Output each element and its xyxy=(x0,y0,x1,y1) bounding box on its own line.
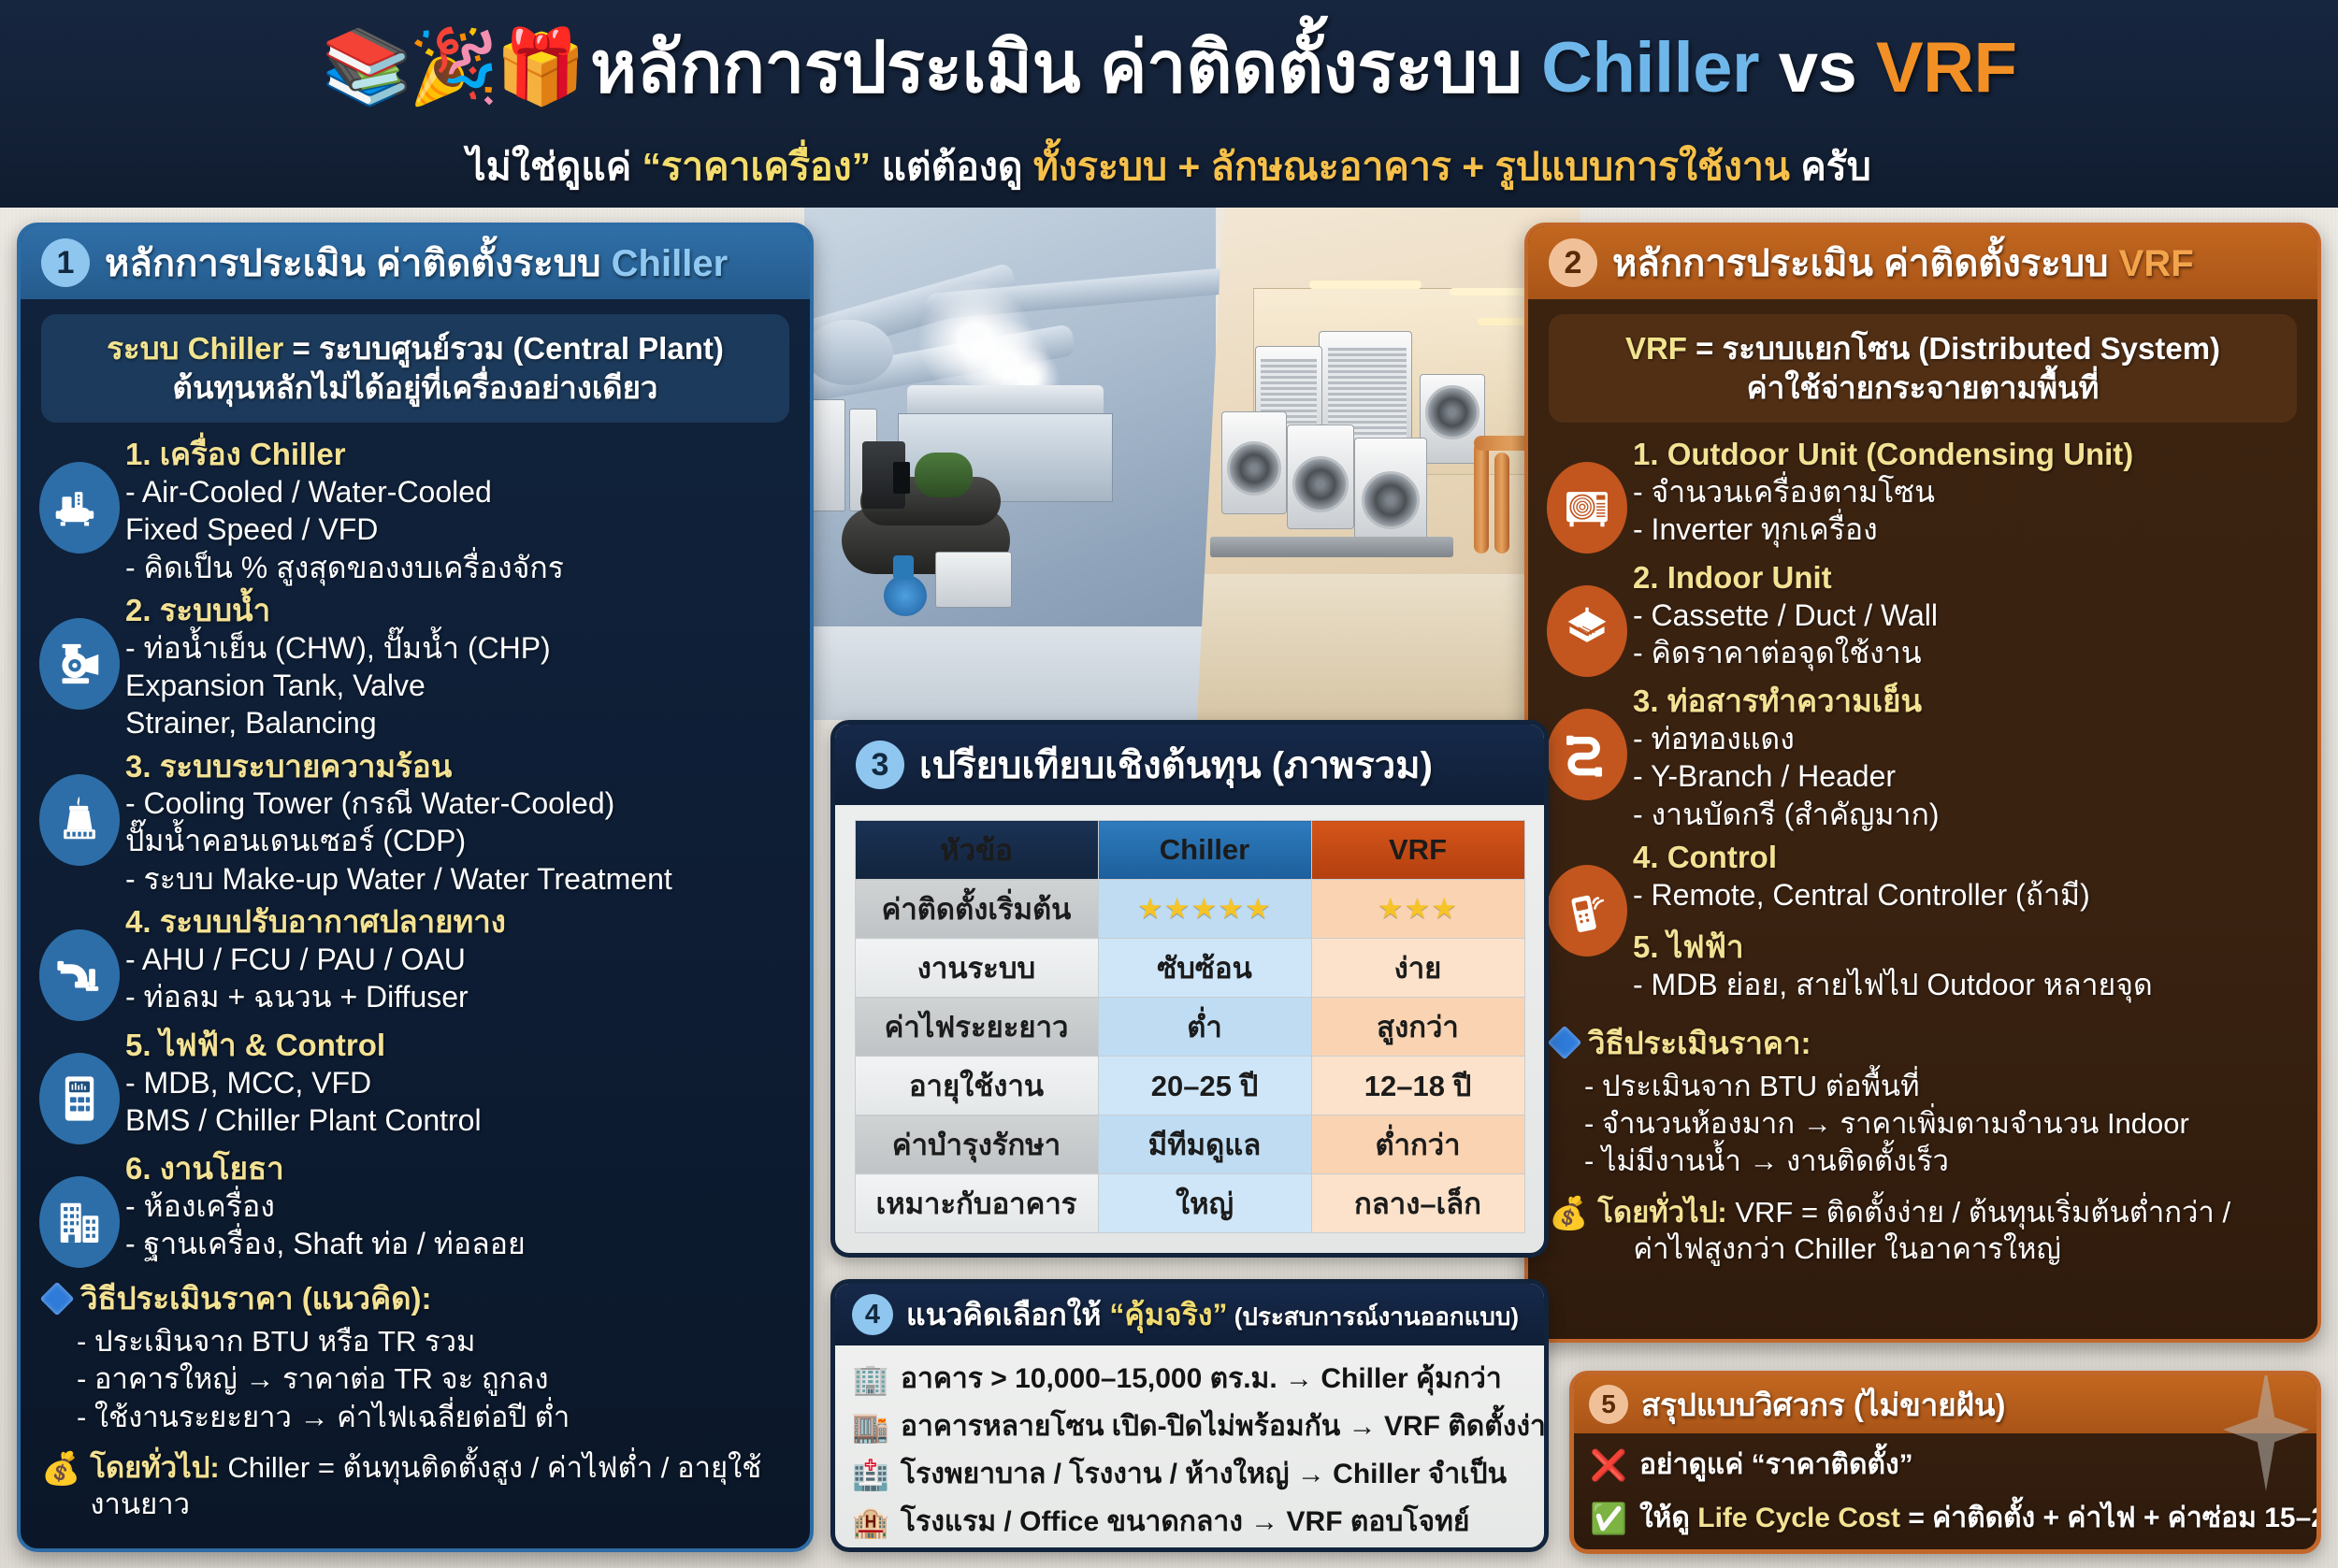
table-row: ค่าไฟระยะยาว ต่ำ สูงกว่า xyxy=(855,998,1524,1057)
table-row: งานระบบ ซับซ้อน ง่าย xyxy=(855,939,1524,998)
money-bag-icon: 💰 xyxy=(1549,1198,1588,1230)
list-item-title: 3. ท่อสารทำความเย็น xyxy=(1633,683,1939,720)
list-item-line: - ห้องเครื่อง xyxy=(125,1187,526,1225)
method-line: - อาคารใหญ่ → ราคาต่อ TR จะ ถูกลง xyxy=(45,1360,793,1398)
chiller-definition-box: ระบบ Chiller = ระบบศูนย์รวม (Central Pla… xyxy=(41,314,789,423)
chiller-machine-icon xyxy=(39,462,120,554)
list-item: 4. Control - Remote, Central Controller … xyxy=(1528,839,2317,1003)
list-item-title: 4. Control xyxy=(1633,839,2153,876)
cell-vrf: 12–18 ปี xyxy=(1311,1057,1524,1115)
cost-comparison-header: 3 เปรียบเทียบเชิงต้นทุน (ภาพรวม) xyxy=(835,725,1544,805)
list-item: 🏥 โรงพยาบาล / โรงงาน / ห้างใหญ่ → Chille… xyxy=(852,1452,1535,1496)
vrf-item-list: 1. Outdoor Unit (Condensing Unit) - จำนว… xyxy=(1528,436,2317,1002)
rating-stars-vrf: ★★★ xyxy=(1378,892,1458,926)
cost-comparison-card: 3 เปรียบเทียบเชิงต้นทุน (ภาพรวม) หัวข้อ … xyxy=(830,720,1549,1258)
list-item-line: Expansion Tank, Valve xyxy=(125,667,551,704)
engineer-summary-title: สรุปแบบวิศวกร (ไม่ขายฝัน) xyxy=(1641,1380,2006,1430)
diamond-bullet-icon xyxy=(40,1281,75,1316)
list-item-line: BMS / Chiller Plant Control xyxy=(125,1101,482,1139)
check-mark-icon: ✅ xyxy=(1589,1503,1628,1533)
money-bag-icon: 💰 xyxy=(41,1453,80,1485)
list-item-title: 1. เครื่อง Chiller xyxy=(125,436,564,473)
definition-line-2: ค่าใช้จ่ายกระจายตามพื้นที่ xyxy=(1562,368,2284,408)
books-party-gift-icon: 📚🎉🎁 xyxy=(322,31,583,104)
list-item-body: 4. ระบบปรับอากาศปลายทาง - AHU / FCU / PA… xyxy=(120,903,506,1015)
list-item-line: - AHU / FCU / PAU / OAU xyxy=(125,941,506,978)
engineer-summary-card: 5 สรุปแบบวิศวกร (ไม่ขายฝัน) ❌ อย่าดูแค่ … xyxy=(1569,1371,2321,1554)
infographic-page: 📚🎉🎁 หลักการประเมิน ค่าติดตั้งระบบ Chille… xyxy=(0,0,2338,1568)
department-store-icon: 🏬 xyxy=(852,1412,889,1442)
list-item-body: 5. ไฟฟ้า & Control - MDB, MCC, VFD BMS /… xyxy=(120,1027,482,1139)
vrf-outdoor-units-photo xyxy=(1197,208,1580,720)
list-item: 4. ระบบปรับอากาศปลายทาง - AHU / FCU / PA… xyxy=(21,903,810,1021)
vrf-method-block: วิธีประเมินราคา: - ประเมินจาก BTU ต่อพื้… xyxy=(1528,1003,2317,1181)
list-item-line: - ท่อลม + ฉนวน + Diffuser xyxy=(125,978,506,1015)
list-item-line: - ฐานเครื่อง, Shaft ท่อ / ท่อลอย xyxy=(125,1225,526,1262)
summary-text: โดยทั่วไป: Chiller = ต้นทุนติดตั้งสูง / … xyxy=(90,1449,795,1522)
list-item-line: - Cassette / Duct / Wall xyxy=(1633,597,1938,634)
cell-topic: งานระบบ xyxy=(855,939,1098,998)
list-item-title: 5. ไฟฟ้า xyxy=(1633,928,2153,966)
air-duct-icon xyxy=(39,929,120,1021)
refrigerant-pipe-icon xyxy=(1547,709,1627,800)
list-item-body: 6. งานโยธา - ห้องเครื่อง - ฐานเครื่อง, S… xyxy=(120,1150,526,1262)
chiller-plant-photo xyxy=(804,208,1216,720)
cell-topic: ค่าไฟระยะยาว xyxy=(855,998,1098,1057)
section-number-badge: 2 xyxy=(1549,238,1597,287)
list-item-line: - จำนวนเครื่องตามโซน xyxy=(1633,473,2133,511)
list-item-title: 2. ระบบน้ำ xyxy=(125,592,551,629)
cooling-tower-icon xyxy=(39,774,120,866)
cell-topic: เหมาะกับอาคาร xyxy=(855,1174,1098,1233)
list-item-line: - งานบัดกรี (สำคัญมาก) xyxy=(1633,796,1939,833)
cell-chiller: ซับซ้อน xyxy=(1098,939,1311,998)
cell-topic: อายุใช้งาน xyxy=(855,1057,1098,1115)
selection-guideline-header: 4 แนวคิดเลือกให้ “คุ้มจริง” (ประสบการณ์ง… xyxy=(835,1284,1544,1345)
column-header-chiller: Chiller xyxy=(1098,821,1311,880)
list-item-line: - Air-Cooled / Water-Cooled xyxy=(125,473,564,511)
list-item-line: - Y-Branch / Header xyxy=(1633,757,1939,795)
list-item-text: อาคารหลายโซน เปิด-ปิดไม่พร้อมกัน → VRF ต… xyxy=(901,1404,1549,1448)
list-item-text: โรงพยาบาล / โรงงาน / ห้างใหญ่ → Chiller … xyxy=(901,1452,1507,1496)
chiller-panel-title: หลักการประเมิน ค่าติดตั้งระบบ Chiller xyxy=(105,233,728,293)
list-item-line: - MDB, MCC, VFD xyxy=(125,1064,482,1101)
method-line: - ใช้งานระยะยาว → ค่าไฟเฉลี่ยต่อปี ต่ำ xyxy=(45,1399,793,1436)
list-item-body: 2. Indoor Unit - Cassette / Duct / Wall … xyxy=(1627,559,1938,671)
list-item-line: - Inverter ทุกเครื่อง xyxy=(1633,511,2133,548)
hospital-icon: 🏥 xyxy=(852,1460,889,1489)
list-item-body: 1. เครื่อง Chiller - Air-Cooled / Water-… xyxy=(120,436,564,586)
list-item-title: 3. ระบบระบายความร้อน xyxy=(125,748,672,785)
table-header-row: หัวข้อ Chiller VRF xyxy=(855,821,1524,880)
selection-guideline-card: 4 แนวคิดเลือกให้ “คุ้มจริง” (ประสบการณ์ง… xyxy=(830,1279,1549,1552)
table-row: ค่าบำรุงรักษา มีทีมดูแล ต่ำกว่า xyxy=(855,1115,1524,1174)
remote-control-icon xyxy=(1547,865,1627,957)
section-number-badge: 1 xyxy=(41,238,90,287)
page-header: 📚🎉🎁 หลักการประเมิน ค่าติดตั้งระบบ Chille… xyxy=(0,0,2338,208)
list-item: 🏬 อาคารหลายโซน เปิด-ปิดไม่พร้อมกัน → VRF… xyxy=(852,1404,1535,1448)
list-item-title: 2. Indoor Unit xyxy=(1633,559,1938,597)
chiller-summary: 💰 โดยทั่วไป: Chiller = ต้นทุนติดตั้งสูง … xyxy=(21,1436,810,1522)
cell-topic: ค่าบำรุงรักษา xyxy=(855,1115,1098,1174)
chiller-panel-header: 1 หลักการประเมิน ค่าติดตั้งระบบ Chiller xyxy=(21,226,810,299)
method-line: - ประเมินจาก BTU หรือ TR รวม xyxy=(45,1323,793,1360)
cost-comparison-table: หัวข้อ Chiller VRF ค่าติดตั้งเริ่มต้น ★★… xyxy=(855,820,1525,1233)
list-item: 2. ระบบน้ำ - ท่อน้ำเย็น (CHW), ปั๊มน้ำ (… xyxy=(21,592,810,742)
definition-line-1: VRF = ระบบแยกโซน (Distributed System) xyxy=(1562,329,2284,368)
chiller-panel: 1 หลักการประเมิน ค่าติดตั้งระบบ Chiller … xyxy=(17,223,814,1552)
list-item: 6. งานโยธา - ห้องเครื่อง - ฐานเครื่อง, S… xyxy=(21,1150,810,1268)
list-item: 1. Outdoor Unit (Condensing Unit) - จำนว… xyxy=(1528,436,2317,554)
rating-stars-chiller: ★★★★★ xyxy=(1137,892,1272,926)
cross-mark-icon: ❌ xyxy=(1589,1450,1628,1480)
list-item-title: 4. ระบบปรับอากาศปลายทาง xyxy=(125,903,506,941)
cell-chiller: มีทีมดูแล xyxy=(1098,1115,1311,1174)
cell-chiller: ใหญ่ xyxy=(1098,1174,1311,1233)
list-item: 3. ระบบระบายความร้อน - Cooling Tower (กร… xyxy=(21,748,810,899)
column-header-vrf: VRF xyxy=(1311,821,1524,880)
vrf-panel-title: หลักการประเมิน ค่าติดตั้งระบบ VRF xyxy=(1612,233,2194,293)
cell-vrf: ต่ำกว่า xyxy=(1311,1115,1524,1174)
list-item-line: ปั๊มน้ำคอนเดนเซอร์ (CDP) xyxy=(125,822,672,859)
section-number-badge: 3 xyxy=(856,741,904,789)
chiller-item-list: 1. เครื่อง Chiller - Air-Cooled / Water-… xyxy=(21,436,810,1268)
list-item-body: 3. ท่อสารทำความเย็น - ท่อทองแดง - Y-Bran… xyxy=(1627,683,1939,833)
vrf-summary: 💰 โดยทั่วไป: VRF = ติดตั้งง่าย / ต้นทุนเ… xyxy=(1528,1181,2317,1267)
list-item-line: - Remote, Central Controller (ถ้ามี) xyxy=(1633,876,2153,913)
column-header-topic: หัวข้อ xyxy=(855,821,1098,880)
cell-vrf: กลาง–เล็ก xyxy=(1311,1174,1524,1233)
list-item-body: 3. ระบบระบายความร้อน - Cooling Tower (กร… xyxy=(120,748,672,899)
list-item-text: อาคาร > 10,000–15,000 ตร.ม. → Chiller คุ… xyxy=(901,1357,1502,1401)
cell-vrf: ง่าย xyxy=(1311,939,1524,998)
list-item-line: - ท่อทองแดง xyxy=(1633,720,1939,757)
selection-guideline-list: 🏢 อาคาร > 10,000–15,000 ตร.ม. → Chiller … xyxy=(835,1345,1544,1544)
list-item-title: 1. Outdoor Unit (Condensing Unit) xyxy=(1633,436,2133,473)
cell-chiller: 20–25 ปี xyxy=(1098,1057,1311,1115)
section-number-badge: 5 xyxy=(1589,1385,1628,1424)
table-row: ค่าติดตั้งเริ่มต้น ★★★★★ ★★★ xyxy=(855,880,1524,939)
cell-chiller: ต่ำ xyxy=(1098,998,1311,1057)
center-comparison-photo xyxy=(804,208,1580,720)
list-item-line: - คิดราคาต่อจุดใช้งาน xyxy=(1633,634,1938,671)
method-title: วิธีประเมินราคา: xyxy=(1588,1018,1811,1068)
building-icon xyxy=(39,1176,120,1268)
list-item-line: - ท่อน้ำเย็น (CHW), ปั๊มน้ำ (CHP) xyxy=(125,629,551,667)
list-item-line: Strainer, Balancing xyxy=(125,704,551,741)
list-item: 🏨 โรงแรม / Office ขนาดกลาง → VRF ตอบโจทย… xyxy=(852,1500,1535,1544)
list-item-body: 1. Outdoor Unit (Condensing Unit) - จำนว… xyxy=(1627,436,2133,548)
list-item-body: 4. Control - Remote, Central Controller … xyxy=(1627,839,2153,1003)
list-item-title: 5. ไฟฟ้า & Control xyxy=(125,1027,482,1064)
method-line: - ไม่มีงานน้ำ → งานติดตั้งเร็ว xyxy=(1552,1143,2301,1180)
method-line: - จำนวนห้องมาก → ราคาเพิ่มตามจำนวน Indoo… xyxy=(1552,1105,2301,1143)
section-number-badge: 4 xyxy=(852,1294,893,1335)
table-row: อายุใช้งาน 20–25 ปี 12–18 ปี xyxy=(855,1057,1524,1115)
list-item-line: - MDB ย่อย, สายไฟไป Outdoor หลายจุด xyxy=(1633,966,2153,1003)
vrf-panel: 2 หลักการประเมิน ค่าติดตั้งระบบ VRF VRF … xyxy=(1524,223,2321,1343)
list-item: 2. Indoor Unit - Cassette / Duct / Wall … xyxy=(1528,559,2317,677)
definition-line-1: ระบบ Chiller = ระบบศูนย์รวม (Central Pla… xyxy=(54,329,776,368)
cost-comparison-title: เปรียบเทียบเชิงต้นทุน (ภาพรวม) xyxy=(919,735,1433,795)
chiller-method-block: วิธีประเมินราคา (แนวคิด): - ประเมินจาก B… xyxy=(21,1268,810,1436)
summary-text: โดยทั่วไป: VRF = ติดตั้งง่าย / ต้นทุนเริ… xyxy=(1597,1194,2230,1267)
vrf-definition-box: VRF = ระบบแยกโซน (Distributed System) ค่… xyxy=(1549,314,2297,423)
outdoor-unit-icon xyxy=(1547,462,1627,554)
list-item: 1. เครื่อง Chiller - Air-Cooled / Water-… xyxy=(21,436,810,586)
hotel-icon: 🏨 xyxy=(852,1507,889,1537)
list-item-title: 6. งานโยธา xyxy=(125,1150,526,1187)
list-item-text: โรงแรม / Office ขนาดกลาง → VRF ตอบโจทย์ xyxy=(901,1500,1469,1544)
cell-topic: ค่าติดตั้งเริ่มต้น xyxy=(855,880,1098,939)
list-item-line: Fixed Speed / VFD xyxy=(125,511,564,548)
list-item: 5. ไฟฟ้า & Control - MDB, MCC, VFD BMS /… xyxy=(21,1027,810,1144)
list-item-line: - Cooling Tower (กรณี Water-Cooled) xyxy=(125,784,672,822)
list-item: 🏢 อาคาร > 10,000–15,000 ตร.ม. → Chiller … xyxy=(852,1357,1535,1401)
page-subtitle: ไม่ใช่ดูแค่ “ราคาเครื่อง” แต่ต้องดู ทั้ง… xyxy=(467,137,1871,197)
water-pump-icon xyxy=(39,618,120,710)
table-row: เหมาะกับอาคาร ใหญ่ กลาง–เล็ก xyxy=(855,1174,1524,1233)
title-row: 📚🎉🎁 หลักการประเมิน ค่าติดตั้งระบบ Chille… xyxy=(322,11,2017,123)
list-item-line: - คิดเป็น % สูงสุดของงบเครื่องจักร xyxy=(125,549,564,586)
list-item: ✅ ให้ดู Life Cycle Cost = ค่าติดตั้ง + ค… xyxy=(1574,1487,2316,1540)
list-item-line: - ระบบ Make-up Water / Water Treatment xyxy=(125,860,672,898)
page-title: หลักการประเมิน ค่าติดตั้งระบบ Chiller vs… xyxy=(590,11,2016,123)
list-item: ❌ อย่าดูแค่ “ราคาติดตั้ง” xyxy=(1574,1433,2316,1487)
cassette-unit-icon xyxy=(1547,585,1627,677)
definition-line-2: ต้นทุนหลักไม่ได้อยู่ที่เครื่องอย่างเดียว xyxy=(54,368,776,408)
list-item-body: 2. ระบบน้ำ - ท่อน้ำเย็น (CHW), ปั๊มน้ำ (… xyxy=(120,592,551,742)
method-head: วิธีประเมินราคา: xyxy=(1552,1018,2301,1068)
selection-guideline-title: แนวคิดเลือกให้ “คุ้มจริง” (ประสบการณ์งาน… xyxy=(906,1291,1519,1339)
control-panel-icon xyxy=(39,1053,120,1144)
diamond-bullet-icon xyxy=(1548,1026,1582,1060)
method-title: วิธีประเมินราคา (แนวคิด): xyxy=(80,1273,432,1323)
list-item-text: ให้ดู Life Cycle Cost = ค่าติดตั้ง + ค่า… xyxy=(1639,1496,2321,1540)
list-item-text: อย่าดูแค่ “ราคาติดตั้ง” xyxy=(1639,1443,1913,1487)
list-item: 3. ท่อสารทำความเย็น - ท่อทองแดง - Y-Bran… xyxy=(1528,683,2317,833)
method-head: วิธีประเมินราคา (แนวคิด): xyxy=(45,1273,793,1323)
office-building-icon: 🏢 xyxy=(852,1364,889,1394)
method-line: - ประเมินจาก BTU ต่อพื้นที่ xyxy=(1552,1068,2301,1105)
cell-vrf: สูงกว่า xyxy=(1311,998,1524,1057)
vrf-panel-header: 2 หลักการประเมิน ค่าติดตั้งระบบ VRF xyxy=(1528,226,2317,299)
engineer-summary-header: 5 สรุปแบบวิศวกร (ไม่ขายฝัน) xyxy=(1574,1375,2316,1433)
